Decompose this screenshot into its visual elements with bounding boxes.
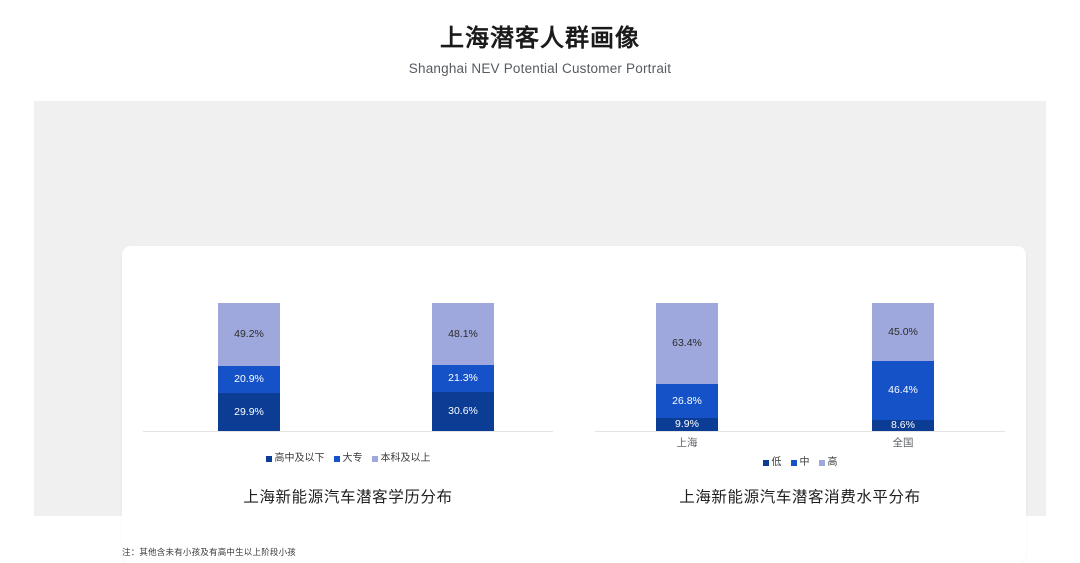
page-subtitle: Shanghai NEV Potential Customer Portrait [409, 61, 671, 77]
plot-area-2: 63.4%26.8%9.9% 45.0%46.4%8.6% [574, 246, 1026, 432]
x-tick-label: 上海 [656, 434, 718, 452]
legend-swatch-icon [266, 456, 272, 462]
bar-value-label: 29.9% [234, 407, 264, 418]
plot-area-1: 49.2%20.9%29.9% 48.1%21.3%30.6% [122, 246, 574, 432]
legend-swatch-icon [372, 456, 378, 462]
legend-swatch-icon [791, 460, 797, 466]
legend-item[interactable]: 低 [763, 457, 782, 469]
legend-education: 高中及以下 大专 本科及以上 [122, 453, 574, 465]
stacked-bar[interactable]: 45.0%46.4%8.6% [872, 303, 934, 431]
axis-baseline [595, 431, 1005, 432]
chart-title: 上海新能源汽车潜客学历分布 [122, 488, 574, 508]
bar-value-label: 21.3% [448, 373, 478, 384]
legend-label: 中 [800, 457, 810, 469]
legend-item[interactable]: 高中及以下 [266, 453, 325, 465]
legend-swatch-icon [819, 460, 825, 466]
legend-label: 高 [828, 457, 838, 469]
x-axis-labels-1 [122, 434, 574, 452]
chart-title: 上海新能源汽车潜客消费水平分布 [574, 488, 1026, 508]
bar-value-label: 45.0% [888, 327, 918, 338]
axis-baseline [143, 431, 553, 432]
stacked-bar[interactable]: 63.4%26.8%9.9% [656, 303, 718, 431]
legend-label: 低 [772, 457, 782, 469]
legend-item[interactable]: 高 [819, 457, 838, 469]
bar-value-label: 49.2% [234, 329, 264, 340]
chart-card: 49.2%20.9%29.9% 48.1%21.3%30.6% 高中及以下 大专 [122, 246, 1026, 563]
bar-value-label: 63.4% [672, 338, 702, 349]
legend-item[interactable]: 中 [791, 457, 810, 469]
bar-segment[interactable]: 8.6% [872, 420, 934, 431]
chart-education-distribution: 49.2%20.9%29.9% 48.1%21.3%30.6% 高中及以下 大专 [122, 246, 574, 563]
stacked-bar[interactable]: 49.2%20.9%29.9% [218, 303, 280, 431]
outer-panel: 49.2%20.9%29.9% 48.1%21.3%30.6% 高中及以下 大专 [34, 101, 1046, 516]
bar-segment[interactable]: 29.9% [218, 393, 280, 431]
legend-label: 高中及以下 [275, 453, 325, 465]
bar-value-label: 20.9% [234, 374, 264, 385]
bar-segment[interactable]: 21.3% [432, 365, 494, 392]
legend-swatch-icon [763, 460, 769, 466]
legend-label: 大专 [343, 453, 363, 465]
bar-value-label: 30.6% [448, 406, 478, 417]
legend-item[interactable]: 本科及以上 [372, 453, 431, 465]
bar-segment[interactable]: 20.9% [218, 366, 280, 393]
page-header: 上海潜客人群画像 Shanghai NEV Potential Customer… [0, 0, 1080, 101]
bar-segment[interactable]: 63.4% [656, 303, 718, 384]
x-tick-label: 全国 [872, 434, 934, 452]
bar-value-label: 26.8% [672, 396, 702, 407]
bar-segment[interactable]: 46.4% [872, 361, 934, 420]
x-axis-labels-2: 上海 全国 [574, 434, 1026, 452]
chart-consumption-level-distribution: 63.4%26.8%9.9% 45.0%46.4%8.6% 上海 全国 低 中 [574, 246, 1026, 563]
bar-segment[interactable]: 9.9% [656, 418, 718, 431]
bar-segment[interactable]: 26.8% [656, 384, 718, 418]
legend-item[interactable]: 大专 [334, 453, 363, 465]
page-title: 上海潜客人群画像 [440, 24, 640, 54]
legend-swatch-icon [334, 456, 340, 462]
bar-segment[interactable]: 30.6% [432, 392, 494, 431]
bar-value-label: 48.1% [448, 329, 478, 340]
bar-segment[interactable]: 45.0% [872, 303, 934, 361]
stacked-bar[interactable]: 48.1%21.3%30.6% [432, 303, 494, 431]
bar-segment[interactable]: 49.2% [218, 303, 280, 366]
bar-value-label: 46.4% [888, 385, 918, 396]
bar-value-label: 9.9% [675, 419, 699, 430]
bar-value-label: 8.6% [891, 420, 915, 431]
bar-segment[interactable]: 48.1% [432, 303, 494, 365]
footnote: 注：其他含未有小孩及有高中生以上阶段小孩 [122, 546, 296, 558]
legend-consumption: 低 中 高 [574, 457, 1026, 469]
charts-container: 49.2%20.9%29.9% 48.1%21.3%30.6% 高中及以下 大专 [122, 246, 1026, 563]
legend-label: 本科及以上 [381, 453, 431, 465]
